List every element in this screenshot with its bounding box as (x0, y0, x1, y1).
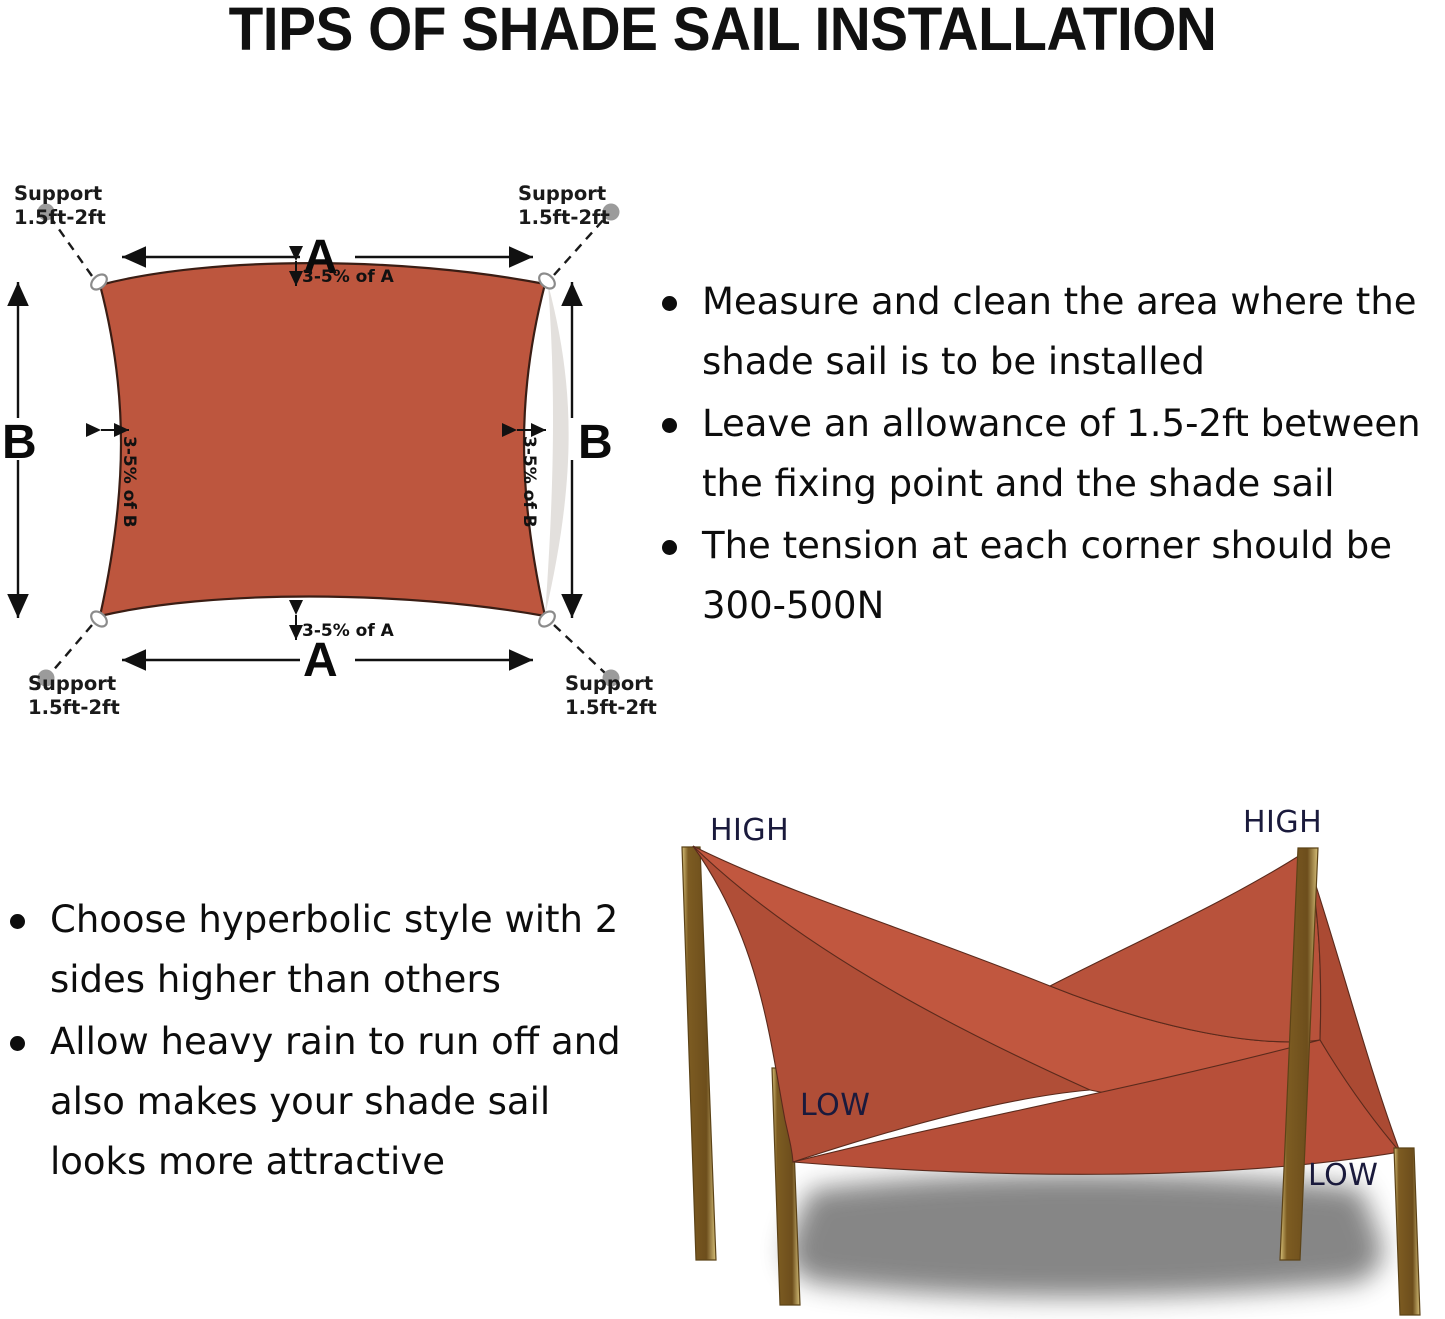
curve-label-b-right: 3-5% of B (519, 436, 539, 528)
shade-sail-fabric (100, 263, 545, 616)
dimension-label-b-right: B (578, 416, 613, 469)
support-label-br-line2: 1.5ft-2ft (565, 696, 657, 719)
support-label-tr-line2: 1.5ft-2ft (518, 206, 610, 229)
list-item-text: The tension at each corner should be 300… (702, 524, 1392, 627)
bullet-dot-icon (662, 418, 677, 433)
dimension-label-a-bottom: A (303, 634, 338, 687)
list-item-text: Allow heavy rain to run off and also mak… (50, 1020, 621, 1183)
rect-sail-diagram: Support 1.5ft-2ft Support 1.5ft-2ft Supp… (0, 160, 660, 730)
list-item: Leave an allowance of 1.5-2ft between th… (650, 394, 1445, 514)
support-label-tl-line2: 1.5ft-2ft (14, 206, 106, 229)
curve-label-b-left: 3-5% of B (119, 436, 139, 528)
hyperbolic-sail-svg: HIGH HIGH LOW LOW (660, 790, 1445, 1319)
rect-sail-svg: Support 1.5ft-2ft Support 1.5ft-2ft Supp… (0, 160, 660, 730)
label-high-right: HIGH (1243, 805, 1322, 840)
pole-high-left (682, 847, 716, 1260)
support-label-tr-line1: Support (518, 182, 606, 205)
support-label-bl-line1: Support (28, 672, 116, 695)
dimension-a-bottom: A (122, 634, 533, 687)
list-item-text: Choose hyperbolic style with 2 sides hig… (50, 898, 618, 1001)
hyperbolic-tips-list: Choose hyperbolic style with 2 sides hig… (0, 890, 640, 1194)
installation-tips-list: Measure and clean the area where the sha… (650, 272, 1445, 638)
label-high-left: HIGH (710, 813, 789, 848)
list-item-text: Measure and clean the area where the sha… (702, 280, 1417, 383)
label-low-right: LOW (1308, 1158, 1378, 1193)
dimension-label-b-left: B (2, 416, 37, 469)
hyperbolic-sail-diagram: HIGH HIGH LOW LOW (660, 790, 1445, 1319)
pole-low-right (1394, 1148, 1420, 1315)
infographic-page: TIPS OF SHADE SAIL INSTALLATION (0, 0, 1445, 1319)
curve-depth-b-right: 3-5% of B (517, 430, 546, 528)
bullet-dot-icon (662, 296, 677, 311)
list-item-text: Leave an allowance of 1.5-2ft between th… (702, 402, 1421, 505)
label-low-left: LOW (800, 1088, 870, 1123)
list-item: The tension at each corner should be 300… (650, 516, 1445, 636)
dimension-b-right: B (572, 282, 613, 618)
list-item: Choose hyperbolic style with 2 sides hig… (0, 890, 640, 1010)
curve-depth-a-bottom: 3-5% of A (296, 615, 395, 641)
curve-depth-b-left: 3-5% of B (101, 430, 139, 528)
list-item: Measure and clean the area where the sha… (650, 272, 1445, 392)
support-label-br-line1: Support (565, 672, 653, 695)
bullet-dot-icon (10, 914, 25, 929)
page-title: TIPS OF SHADE SAIL INSTALLATION (51, 0, 1395, 62)
sail-edge-shadow (545, 284, 569, 616)
dimension-b-left: B (2, 282, 37, 618)
bullet-dot-icon (10, 1036, 25, 1051)
curve-label-a-top: 3-5% of A (302, 267, 395, 287)
bullet-dot-icon (662, 540, 677, 555)
support-label-bl-line2: 1.5ft-2ft (28, 696, 120, 719)
support-label-tl-line1: Support (14, 182, 102, 205)
list-item: Allow heavy rain to run off and also mak… (0, 1012, 640, 1192)
curve-label-a-bottom: 3-5% of A (302, 621, 395, 641)
